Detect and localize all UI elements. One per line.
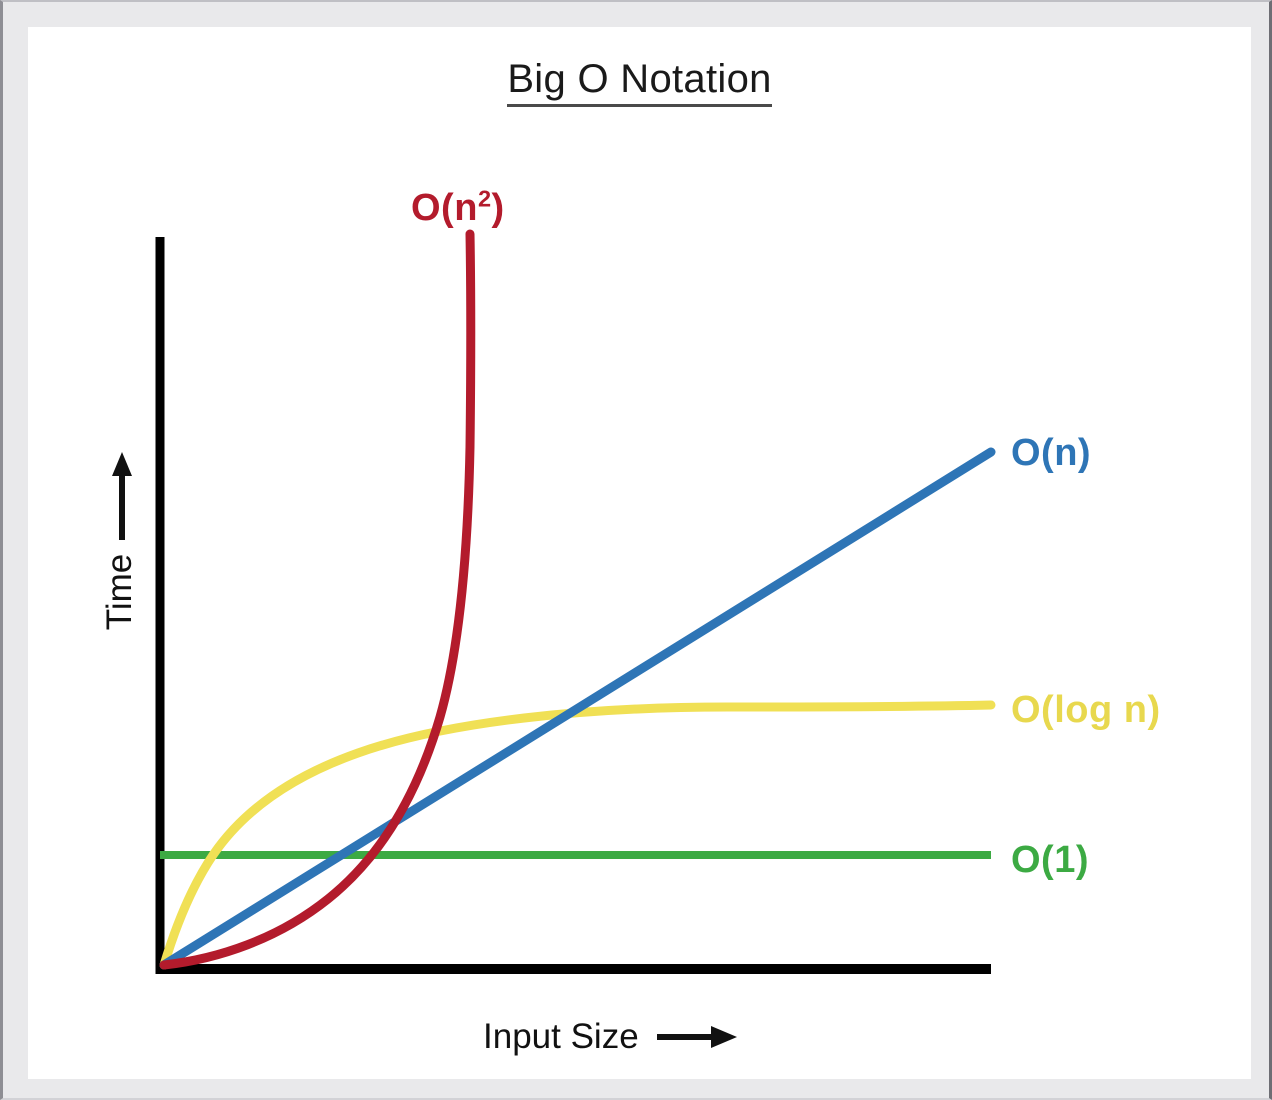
image-frame: Big O Notation Time Input <box>0 0 1272 1100</box>
chart-canvas: Big O Notation Time Input <box>28 27 1251 1079</box>
curve-label-linear: O(n) <box>1011 432 1091 475</box>
plot-area <box>28 27 1251 1079</box>
x-axis-label: Input Size <box>483 1017 639 1057</box>
curve-label-quadratic-exponent: 2 <box>478 185 492 211</box>
x-axis-label-group: Input Size <box>483 1007 737 1067</box>
curve-label-quadratic-tail: ) <box>492 187 505 229</box>
right-arrow-icon <box>657 1024 737 1050</box>
y-axis-label-group: Time <box>90 452 150 702</box>
curve-label-constant: O(1) <box>1011 839 1089 882</box>
curve-label-quadratic: O(n2) <box>411 187 505 230</box>
y-axis-label: Time <box>100 522 140 662</box>
curve-label-quadratic-main: O(n <box>411 187 478 229</box>
curve-label-logarithmic: O(log n) <box>1011 689 1161 732</box>
